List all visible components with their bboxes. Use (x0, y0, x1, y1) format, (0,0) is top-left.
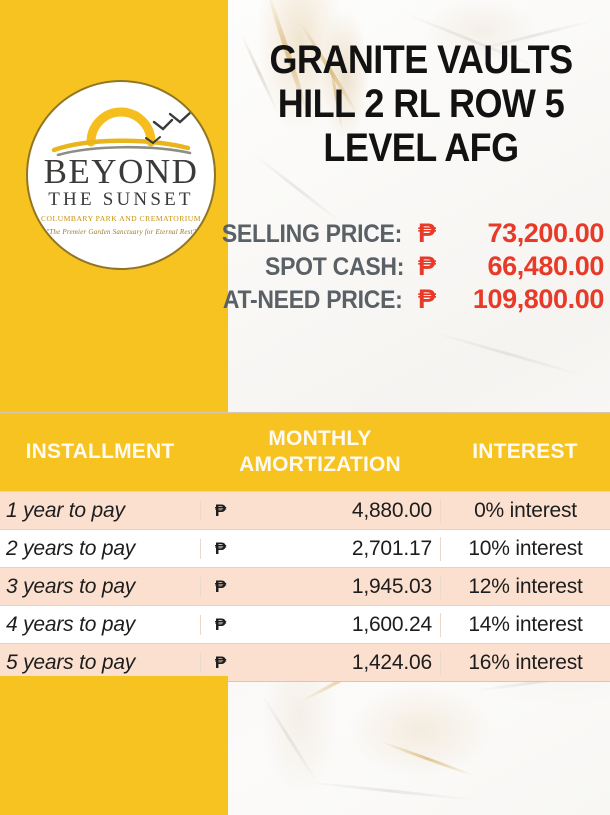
peso-sign-icon: ₱ (418, 218, 436, 249)
cell-installment: 3 years to pay (0, 575, 200, 599)
column-header-interest: INTEREST (440, 440, 610, 464)
table-row: 2 years to pay ₱ 2,701.17 10% interest (0, 529, 610, 567)
price-row-spot-cash: SPOT CASH: ₱ 66,480.00 (228, 251, 604, 284)
table-row: 3 years to pay ₱ 1,945.03 12% interest (0, 567, 610, 605)
selling-price-label: SELLING PRICE: (222, 220, 402, 249)
peso-sign-icon: ₱ (200, 539, 240, 559)
cell-installment: 5 years to pay (0, 651, 200, 675)
page-title: GRANITE VAULTS HILL 2 RL ROW 5 LEVEL AFG (256, 38, 585, 170)
company-logo: BEYOND THE SUNSET COLUMBARY PARK AND CRE… (28, 82, 214, 268)
cell-interest: 10% interest (440, 537, 610, 561)
table-row: 1 year to pay ₱ 4,880.00 0% interest (0, 491, 610, 529)
at-need-price-value: 109,800.00 (426, 284, 604, 315)
peso-sign-icon: ₱ (200, 501, 240, 521)
bottom-yellow-panel (0, 676, 228, 815)
column-header-installment: INSTALLMENT (0, 440, 200, 464)
spot-cash-label: SPOT CASH: (265, 253, 404, 282)
cell-interest: 12% interest (440, 575, 610, 599)
table-header-row: INSTALLMENT MONTHLY AMORTIZATION INTERES… (0, 413, 610, 491)
logo-tagline: "The Premier Garden Sanctuary for Eterna… (28, 229, 214, 236)
logo-name-secondary: THE SUNSET (28, 190, 214, 209)
logo-subtitle: COLUMBARY PARK AND CREMATORIUM (28, 215, 214, 223)
peso-sign-icon: ₱ (200, 653, 240, 673)
price-row-at-need: AT-NEED PRICE: ₱ 109,800.00 (228, 284, 604, 317)
page-title-line-1: GRANITE VAULTS (256, 38, 585, 82)
spot-cash-value: 66,480.00 (436, 251, 604, 282)
column-header-amortization: MONTHLY AMORTIZATION (200, 426, 440, 478)
peso-sign-icon: ₱ (200, 615, 240, 635)
cell-amortization: 1,600.24 (240, 613, 440, 637)
peso-sign-icon: ₱ (200, 577, 240, 597)
column-header-amortization-line-2: AMORTIZATION (200, 452, 440, 478)
cell-amortization: 1,424.06 (240, 651, 440, 675)
at-need-price-label: AT-NEED PRICE: (222, 286, 402, 315)
cell-installment: 1 year to pay (0, 499, 200, 523)
price-summary: SELLING PRICE: ₱ 73,200.00 SPOT CASH: ₱ … (228, 218, 604, 317)
sunset-with-birds-icon (28, 98, 214, 156)
cell-amortization: 2,701.17 (240, 537, 440, 561)
column-header-amortization-line-1: MONTHLY (200, 426, 440, 452)
price-row-selling: SELLING PRICE: ₱ 73,200.00 (228, 218, 604, 251)
cell-interest: 16% interest (440, 651, 610, 675)
logo-name-primary: BEYOND (28, 154, 214, 189)
installment-table: INSTALLMENT MONTHLY AMORTIZATION INTERES… (0, 412, 610, 682)
page-title-line-2: HILL 2 RL ROW 5 (256, 82, 585, 126)
cell-amortization: 1,945.03 (240, 575, 440, 599)
cell-installment: 4 years to pay (0, 613, 200, 637)
cell-installment: 2 years to pay (0, 537, 200, 561)
cell-interest: 0% interest (440, 499, 610, 523)
peso-sign-icon: ₱ (418, 251, 436, 282)
cell-interest: 14% interest (440, 613, 610, 637)
table-row: 4 years to pay ₱ 1,600.24 14% interest (0, 605, 610, 643)
selling-price-value: 73,200.00 (436, 218, 604, 249)
cell-amortization: 4,880.00 (240, 499, 440, 523)
page-title-line-3: LEVEL AFG (256, 126, 585, 170)
